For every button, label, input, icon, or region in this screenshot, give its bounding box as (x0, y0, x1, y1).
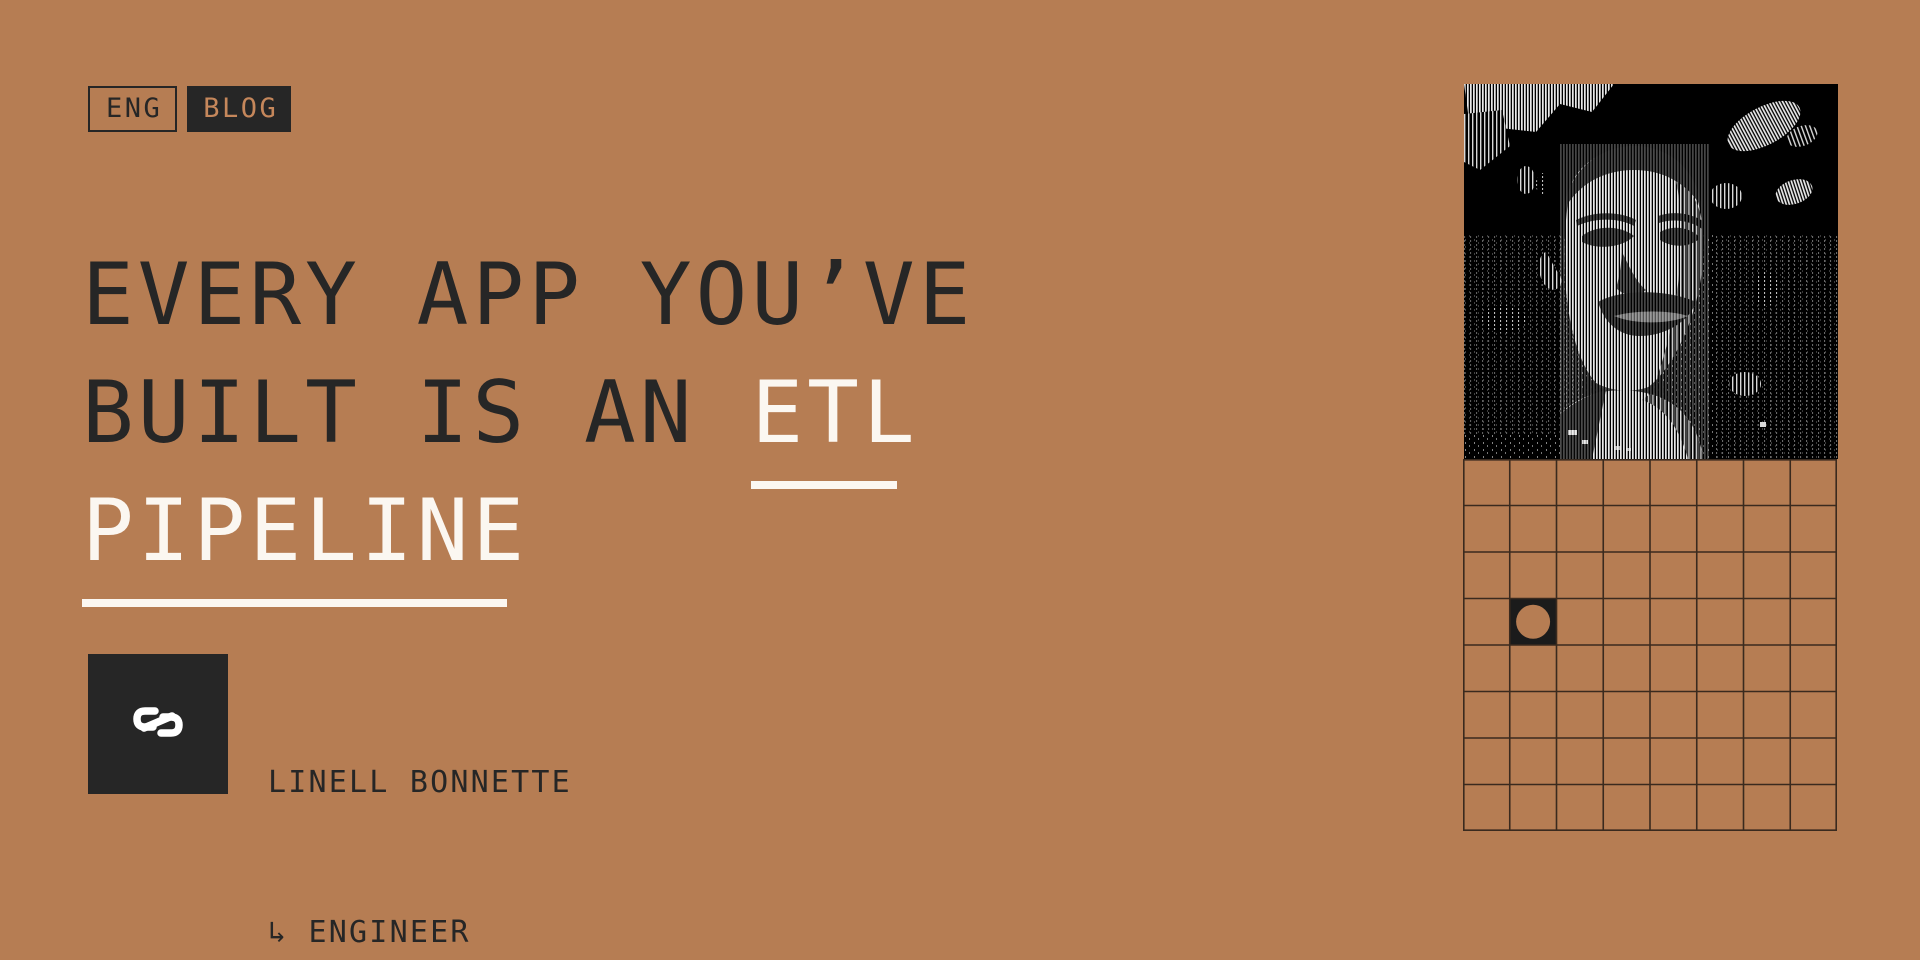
badge-blog[interactable]: BLOG (187, 86, 291, 132)
headline-line-1: EVERY APP YOU’VE (82, 236, 1352, 354)
headline-keyword-pipeline: PIPELINE (82, 481, 528, 581)
author-logo-tile (88, 654, 228, 794)
grid-marker-hole (1516, 605, 1550, 639)
author-portrait (1464, 84, 1838, 459)
decorative-grid (1463, 459, 1837, 831)
badge-group: ENG BLOG (88, 86, 291, 132)
blog-cover-poster: ENG BLOG EVERY APP YOU’VE BUILT IS AN ET… (0, 0, 1920, 960)
author-block: LINELL BONNETTE ↳ ENGINEER ↳ INNGEST (IN… (88, 654, 734, 960)
headline-line-3: PIPELINE (82, 472, 1352, 590)
headline-line-2-plain: BUILT IS AN (82, 363, 751, 463)
badge-eng[interactable]: ENG (88, 86, 177, 132)
page-title: EVERY APP YOU’VE BUILT IS AN ETL PIPELIN… (82, 236, 1352, 590)
headline-keyword-etl: ETL (751, 363, 918, 463)
inngest-logo-icon (120, 684, 196, 764)
author-details: LINELL BONNETTE ↳ ENGINEER ↳ INNGEST (IN… (268, 654, 734, 960)
headline-line-2: BUILT IS AN ETL (82, 354, 1352, 472)
author-role: ↳ ENGINEER (268, 908, 734, 958)
author-name: LINELL BONNETTE (268, 758, 734, 808)
